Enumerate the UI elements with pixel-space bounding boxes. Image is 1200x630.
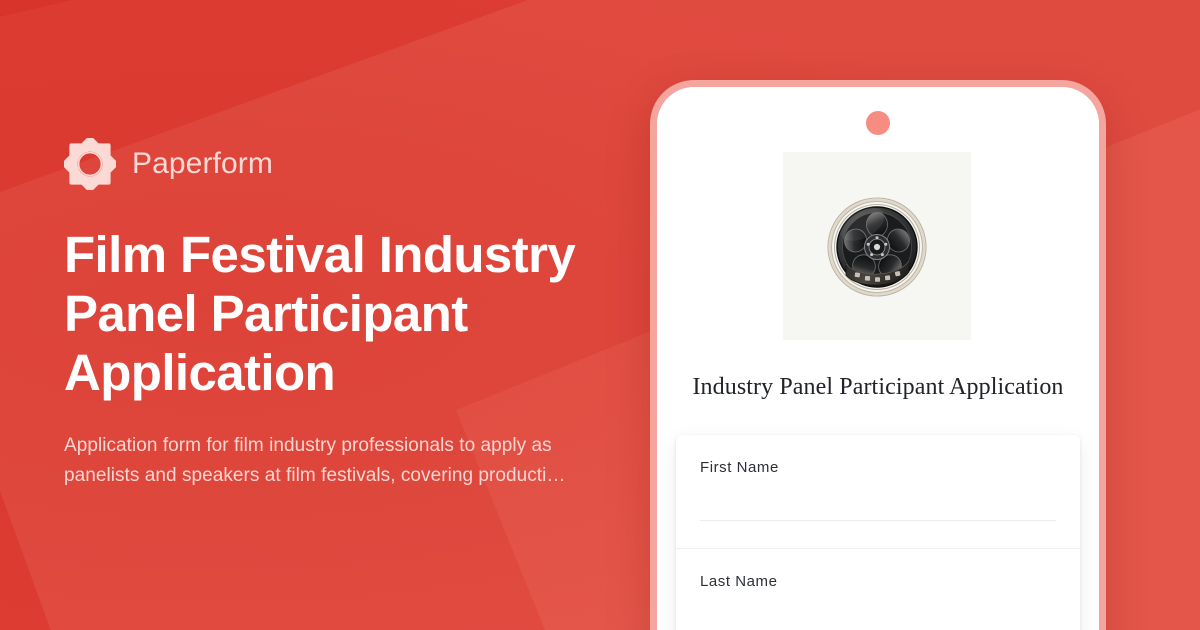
form-card: First Name Last Name [676,435,1080,630]
form-field-last-name[interactable]: Last Name [676,549,1080,630]
brand-name: Paperform [132,149,273,179]
field-label-first-name: First Name [700,459,1056,476]
paperform-star-logo-icon [64,138,116,190]
form-field-first-name[interactable]: First Name [676,435,1080,549]
field-label-last-name: Last Name [700,573,1056,590]
form-hero-image [783,152,971,340]
phone-mockup: Industry Panel Participant Application F… [650,80,1106,630]
phone-screen: Industry Panel Participant Application F… [657,87,1099,630]
camera-dot-icon [866,111,890,135]
field-input-first-name[interactable] [700,520,1056,521]
brand-lockup: Paperform [64,138,624,190]
page-description: Application form for film industry profe… [64,431,569,492]
hero-content: Paperform Film Festival Industry Panel P… [64,0,624,630]
form-heading: Industry Panel Participant Application [657,373,1099,402]
page-title: Film Festival Industry Panel Participant… [64,226,584,403]
